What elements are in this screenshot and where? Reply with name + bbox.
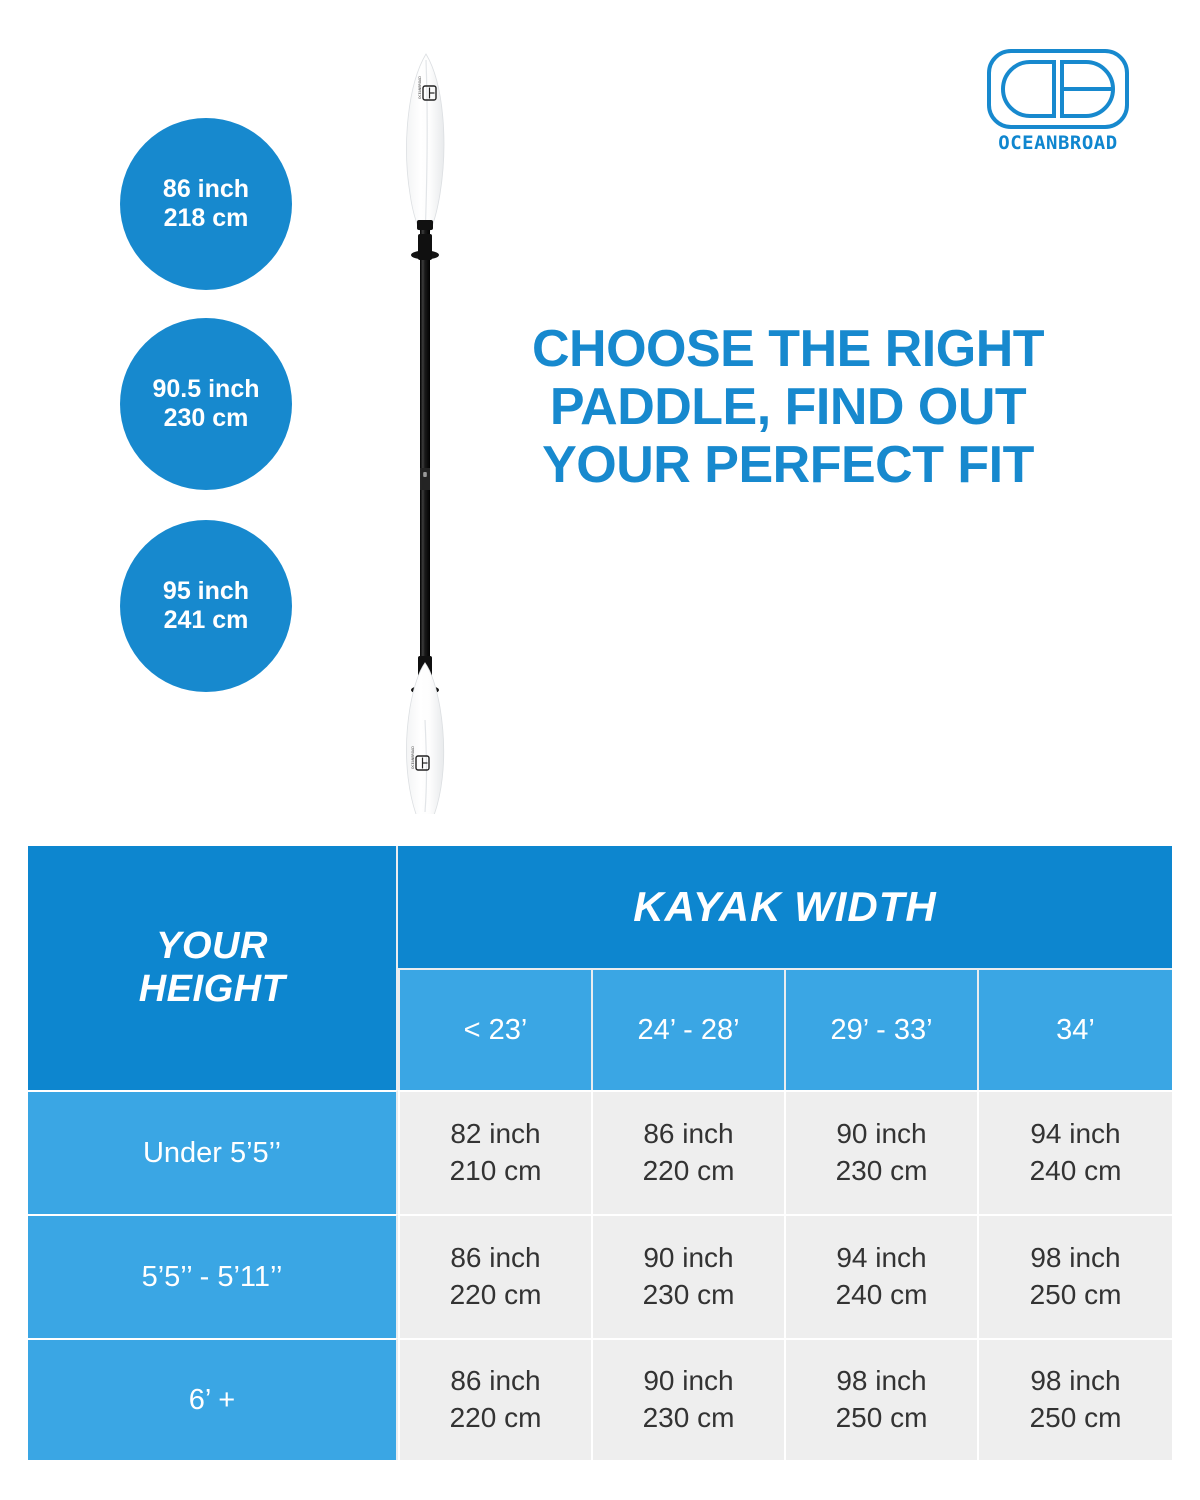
header-your-height: YOUR HEIGHT <box>28 846 398 1090</box>
kayak-paddle-image: OCEANBROAD OCEANBROAD <box>368 44 484 814</box>
table-cell: 82 inch 210 cm <box>398 1090 591 1214</box>
column-header-width-1: < 23’ <box>398 968 591 1090</box>
table-cell: 90 inch 230 cm <box>591 1214 784 1338</box>
header-kayak-width: KAYAK WIDTH <box>398 846 1172 968</box>
row-label-5-5-to-5-11: 5’5’’ - 5’11’’ <box>28 1214 398 1338</box>
size-circle-95: 95 inch 241 cm <box>120 520 292 692</box>
table-cell: 86 inch 220 cm <box>591 1090 784 1214</box>
brand-logo: OCEANBROAD <box>978 48 1138 158</box>
size-circle-inch: 95 inch <box>163 577 249 607</box>
size-circle-inch: 86 inch <box>163 175 249 205</box>
brand-wordmark: OCEANBROAD <box>978 132 1138 154</box>
column-header-width-3: 29’ - 33’ <box>784 968 977 1090</box>
ob-monogram-icon <box>986 48 1130 130</box>
size-circle-cm: 241 cm <box>164 606 249 636</box>
table-cell: 86 inch 220 cm <box>398 1338 591 1460</box>
table-cell: 94 inch 240 cm <box>977 1090 1172 1214</box>
size-circle-cm: 218 cm <box>164 204 249 234</box>
table-cell: 98 inch 250 cm <box>784 1338 977 1460</box>
table-cell: 98 inch 250 cm <box>977 1214 1172 1338</box>
size-circle-90-5: 90.5 inch 230 cm <box>120 318 292 490</box>
paddle-blade-bottom: OCEANBROAD <box>406 663 443 814</box>
row-label-under-5-5: Under 5’5’’ <box>28 1090 398 1214</box>
size-circle-cm: 230 cm <box>164 404 249 434</box>
size-circle-inch: 90.5 inch <box>153 375 260 405</box>
table-cell: 90 inch 230 cm <box>784 1090 977 1214</box>
paddle-size-chart-table: YOUR HEIGHT KAYAK WIDTH < 23’ 24’ - 28’ … <box>28 846 1172 1460</box>
paddle-blade-top: OCEANBROAD <box>407 54 444 240</box>
table-cell: 98 inch 250 cm <box>977 1338 1172 1460</box>
row-label-6-plus: 6’ + <box>28 1338 398 1460</box>
page-headline: CHOOSE THE RIGHT PADDLE, FIND OUT YOUR P… <box>498 320 1078 495</box>
size-circle-86: 86 inch 218 cm <box>120 118 292 290</box>
column-header-width-2: 24’ - 28’ <box>591 968 784 1090</box>
svg-text:OCEANBROAD: OCEANBROAD <box>411 746 415 769</box>
svg-text:OCEANBROAD: OCEANBROAD <box>418 76 422 99</box>
table-cell: 90 inch 230 cm <box>591 1338 784 1460</box>
paddle-shaft <box>411 220 439 716</box>
column-header-width-4: 34’ <box>977 968 1172 1090</box>
table-cell: 94 inch 240 cm <box>784 1214 977 1338</box>
table-cell: 86 inch 220 cm <box>398 1214 591 1338</box>
